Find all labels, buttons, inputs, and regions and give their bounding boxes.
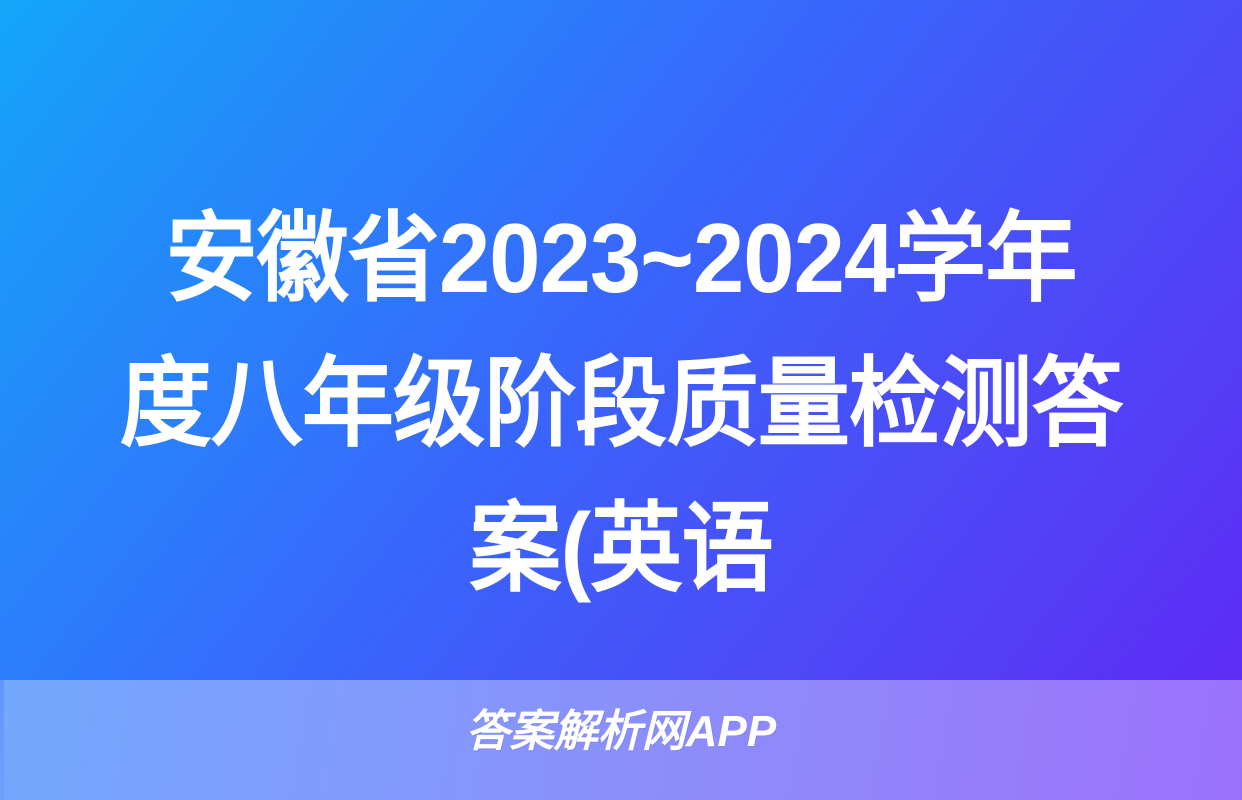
poster-root: 安徽省2023~2024学年 度八年级阶段质量检测答 案(英语 答案解析网APP — [0, 0, 1242, 800]
page-title-line-1: 安徽省2023~2024学年 — [37, 186, 1204, 331]
footer-brand-caption: 答案解析网APP — [0, 704, 1242, 760]
page-title-line-2: 度八年级阶段质量检测答 — [37, 331, 1204, 476]
page-title-line-3: 案(英语 — [37, 476, 1204, 621]
page-title: 安徽省2023~2024学年 度八年级阶段质量检测答 案(英语 — [0, 186, 1242, 621]
